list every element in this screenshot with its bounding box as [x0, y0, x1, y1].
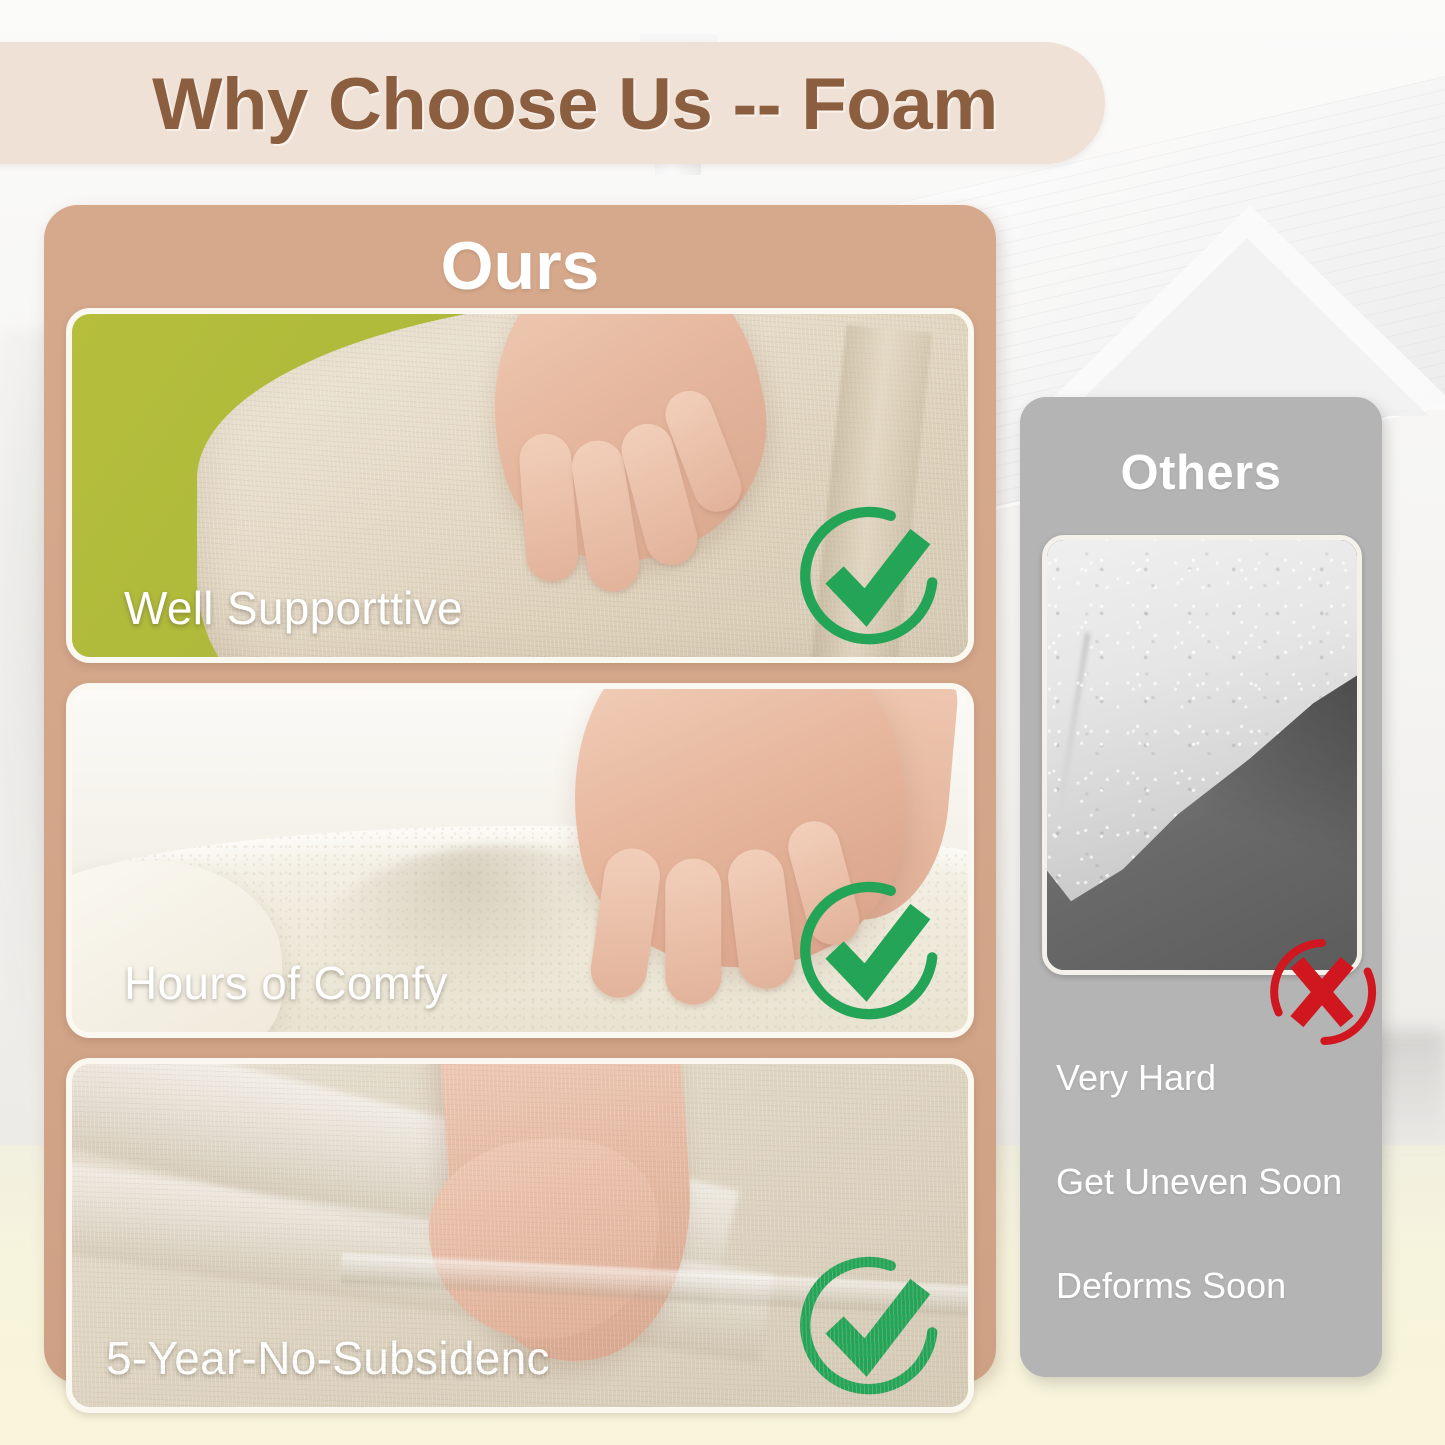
house-gable-inner-shape: [1065, 238, 1429, 416]
others-list-item: Get Uneven Soon: [1056, 1161, 1376, 1203]
leg-shape: [435, 1058, 702, 1369]
cushion-seam: [340, 1253, 974, 1317]
ours-feature-card: 5-Year-No-Subsidenc: [66, 1058, 974, 1413]
page-title: Why Choose Us -- Foam: [60, 50, 1090, 158]
card-caption: Well Supporttive: [124, 581, 463, 635]
green-check-icon: [798, 501, 948, 649]
green-check-icon: [798, 1251, 948, 1399]
others-list-item: Deforms Soon: [1056, 1265, 1376, 1307]
finger-shape: [665, 859, 721, 1005]
heel-shape: [421, 1128, 671, 1351]
foam-crease: [1057, 633, 1090, 814]
others-panel-title: Others: [1020, 445, 1382, 501]
others-drawbacks-list: Very Hard Get Uneven Soon Deforms Soon: [1056, 1057, 1376, 1369]
fabric-fold: [66, 1157, 773, 1364]
others-panel: Others Very Hard Get Uneven Soon Deforms…: [1020, 397, 1382, 1377]
ours-feature-card: Well Supporttive: [66, 308, 974, 663]
red-x-icon: [1264, 935, 1380, 1049]
ours-panel: Ours Well Supporttive: [44, 205, 996, 1383]
ours-panel-title: Ours: [44, 227, 996, 305]
card-caption: 5-Year-No-Subsidenc: [106, 1331, 550, 1385]
fabric-fold: [66, 1058, 739, 1308]
green-check-icon: [798, 876, 948, 1024]
infographic-canvas: Why Choose Us -- Foam Others Very Hard G…: [0, 0, 1445, 1445]
ours-feature-card: Hours of Comfy: [66, 683, 974, 1038]
others-list-item: Very Hard: [1056, 1057, 1376, 1099]
others-foam-photo: [1042, 535, 1362, 975]
finger-shape: [518, 432, 580, 583]
card-caption: Hours of Comfy: [124, 956, 448, 1010]
